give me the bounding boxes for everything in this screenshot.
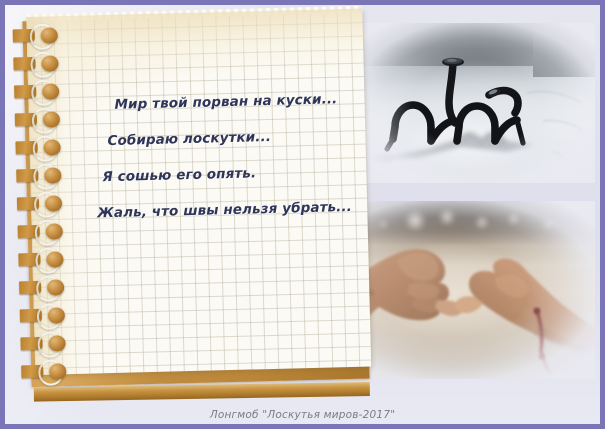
ring-bead [41,55,58,71]
spiral-binding [10,20,77,387]
spiral-ring [18,332,75,357]
ring-bead [48,335,65,351]
spiral-ring [11,24,68,49]
collage-image: Мир твой порван на куски... Собираю лоск… [0,0,605,429]
ring-bead [49,363,66,379]
spiral-ring [18,304,75,329]
spiral-ring [13,108,70,133]
ring-bead [48,307,65,323]
spiral-ring [13,136,70,161]
poem-line-2: Собираю лоскутки... [107,127,351,149]
page-torn-top-edge [26,6,362,22]
ring-bead [42,83,59,99]
spiral-ring [11,52,68,77]
ring-bead [43,111,60,127]
ring-bead [41,27,58,43]
collage-canvas: Мир твой порван на куски... Собираю лоск… [5,5,600,424]
collage-caption: Лонгмоб "Лоскутья миров-2017" [5,409,600,421]
spiral-ring [15,220,72,245]
ring-bead [47,279,64,295]
spiral-ring [15,192,72,217]
poem-line-1: Мир твой порван на куски... [114,91,350,113]
ring-bead [46,223,63,239]
poem-line-4: Жаль, что швы нельзя убрать... [97,199,353,221]
poem-line-3: Я сошью его опять. [102,163,352,185]
bent-nails-photo [357,23,595,183]
spiral-ring [19,360,76,385]
poem-text-block: Мир твой порван на куски... Собираю лоск… [100,91,353,221]
spiral-ring [14,164,71,189]
spiral-ring [16,248,73,273]
spiral-ring [17,276,74,301]
notebook-grid-page: Мир твой порван на куски... Собираю лоск… [26,9,371,375]
spiral-ring [12,80,69,105]
ring-bead [43,139,60,155]
ring-bead [46,251,63,267]
spiral-grid-notebook: Мир твой порван на куски... Собираю лоск… [10,9,371,393]
bent-nails-shape [357,23,595,183]
ring-bead [44,167,61,183]
ring-bead [45,195,62,211]
